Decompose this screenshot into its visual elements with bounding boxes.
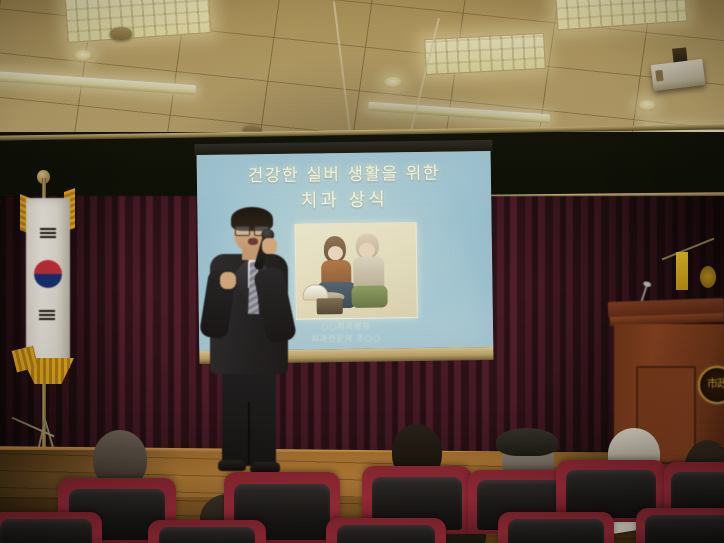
taeguk-symbol-icon <box>34 260 62 288</box>
city-emblem-icon: 市政 <box>698 366 724 404</box>
trigram-gon-icon <box>39 310 55 322</box>
theater-seat <box>498 512 614 543</box>
presenter <box>196 210 300 482</box>
beret-icon <box>496 428 558 456</box>
presenter-hand <box>220 272 236 289</box>
ceiling <box>0 0 724 142</box>
box-prop <box>317 298 343 314</box>
theater-seat <box>0 512 102 543</box>
slide-title: 건강한 실버 생활을 위한 치과 상식 <box>197 161 492 215</box>
secondary-flag <box>676 252 688 290</box>
ceiling-shadow <box>0 0 724 142</box>
presenter-hand <box>262 238 277 254</box>
presenter-shoe <box>218 460 246 471</box>
theater-seat <box>636 508 724 543</box>
flag-tassel <box>700 266 716 288</box>
emblem-text: 市政 <box>700 375 724 391</box>
korean-flag <box>26 198 70 368</box>
trigram-geon-icon <box>40 228 56 240</box>
slide-illustration <box>295 222 418 320</box>
presenter-mouth <box>248 238 258 245</box>
figure-pants <box>351 285 387 308</box>
presenter-leg-seam <box>248 402 250 464</box>
theater-seat <box>148 520 266 543</box>
auditorium-photo: 건강한 실버 생활을 위한 치과 상식 ○○치과병원 치과전문의 조○○ <box>0 0 724 543</box>
theater-seat <box>326 518 446 543</box>
